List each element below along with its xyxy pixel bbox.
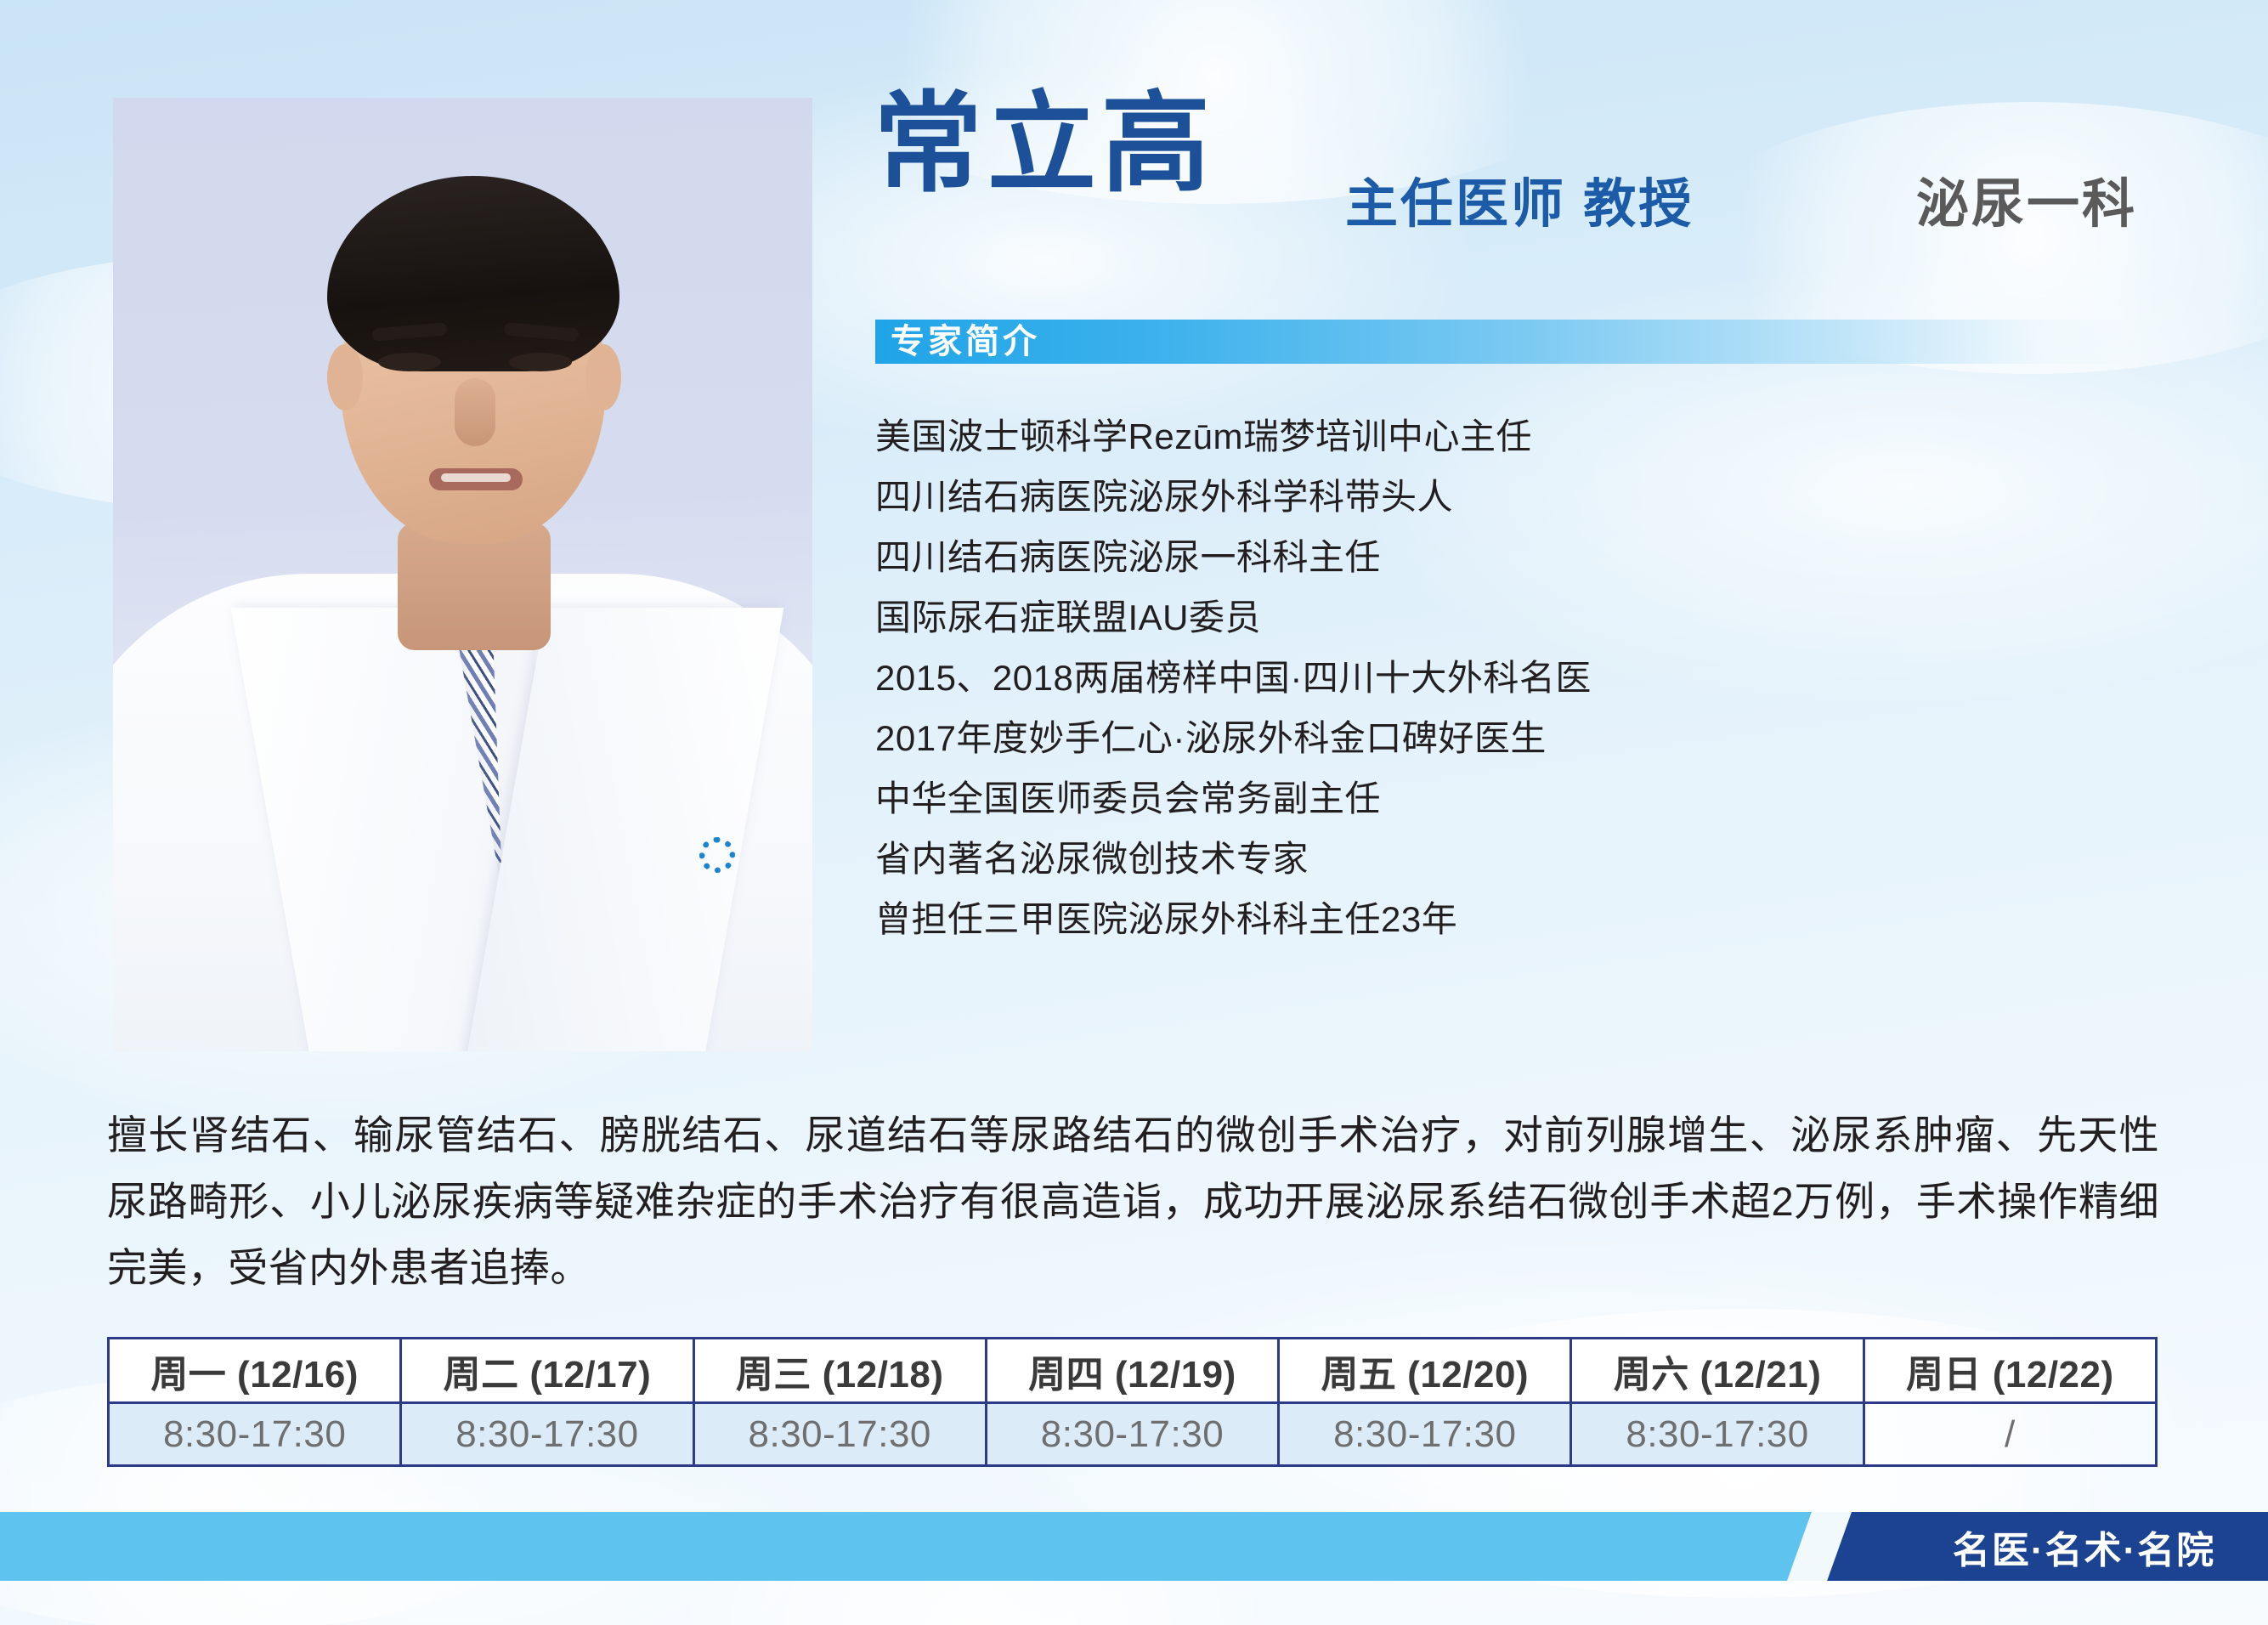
schedule-header-cell: 周二 (12/17) — [401, 1339, 693, 1403]
specialty-description: 擅长肾结石、输尿管结石、膀胱结石、尿道结石等尿路结石的微创手术治疗，对前列腺增生… — [107, 1102, 2159, 1301]
credential-item: 国际尿石症联盟IAU委员 — [875, 587, 2167, 648]
hospital-logo-badge-icon — [699, 837, 735, 873]
expert-intro-label: 专家简介 — [891, 325, 1040, 359]
credential-item: 曾担任三甲医院泌尿外科科主任23年 — [875, 889, 2167, 949]
schedule-time-cell: 8:30-17:30 — [109, 1403, 401, 1466]
credential-item: 四川结石病医院泌尿一科科主任 — [875, 527, 2167, 587]
doctor-profile-poster: 常立高 主任医师 教授 泌尿一科 专家简介 美国波士顿科学Rezūm瑞梦培训中心… — [0, 0, 2268, 1625]
teeth — [441, 473, 511, 482]
credentials-list: 美国波士顿科学Rezūm瑞梦培训中心主任 四川结石病医院泌尿外科学科带头人 四川… — [875, 406, 2167, 949]
schedule-time-cell: 8:30-17:30 — [693, 1403, 986, 1466]
credential-item: 省内著名泌尿微创技术专家 — [875, 829, 2167, 889]
schedule-header-row: 周一 (12/16) 周二 (12/17) 周三 (12/18) 周四 (12/… — [109, 1339, 2157, 1403]
credential-item: 2017年度妙手仁心·泌尿外科金口碑好医生 — [875, 708, 2167, 768]
doctor-portrait — [113, 98, 812, 1051]
doctor-department: 泌尿一科 — [1916, 178, 2137, 231]
schedule-time-cell: / — [1864, 1403, 2156, 1466]
eye-right — [509, 353, 572, 371]
doctor-name: 常立高 — [874, 90, 1215, 199]
schedule-time-cell: 8:30-17:30 — [401, 1403, 693, 1466]
eye-left — [378, 353, 441, 371]
schedule-header-cell: 周六 (12/21) — [1571, 1339, 1864, 1403]
credential-item: 中华全国医师委员会常务副主任 — [875, 768, 2167, 829]
schedule-header-cell: 周日 (12/22) — [1864, 1339, 2156, 1403]
ear-left — [327, 344, 363, 410]
schedule-time-cell: 8:30-17:30 — [1279, 1403, 1571, 1466]
schedule-header-cell: 周一 (12/16) — [109, 1339, 401, 1403]
credential-item: 2015、2018两届榜样中国·四川十大外科名医 — [875, 648, 2167, 708]
credential-item: 四川结石病医院泌尿外科学科带头人 — [875, 467, 2167, 527]
nose — [455, 378, 495, 446]
doctor-title: 主任医师 教授 — [1345, 178, 1694, 231]
schedule-header-cell: 周四 (12/19) — [986, 1339, 1278, 1403]
schedule-time-cell: 8:30-17:30 — [986, 1403, 1278, 1466]
footer-slogan: 名医·名术·名院 — [1900, 1512, 2268, 1581]
expert-intro-bar: 专家简介 — [875, 320, 2137, 364]
schedule-time-cell: 8:30-17:30 — [1571, 1403, 1864, 1466]
ear-right — [585, 344, 621, 410]
hair — [327, 176, 619, 371]
schedule-header-cell: 周三 (12/18) — [693, 1339, 986, 1403]
credential-item: 美国波士顿科学Rezūm瑞梦培训中心主任 — [875, 406, 2167, 467]
weekly-schedule-table: 周一 (12/16) 周二 (12/17) 周三 (12/18) 周四 (12/… — [107, 1337, 2158, 1467]
schedule-time-row: 8:30-17:30 8:30-17:30 8:30-17:30 8:30-17… — [109, 1403, 2157, 1466]
schedule-header-cell: 周五 (12/20) — [1279, 1339, 1571, 1403]
